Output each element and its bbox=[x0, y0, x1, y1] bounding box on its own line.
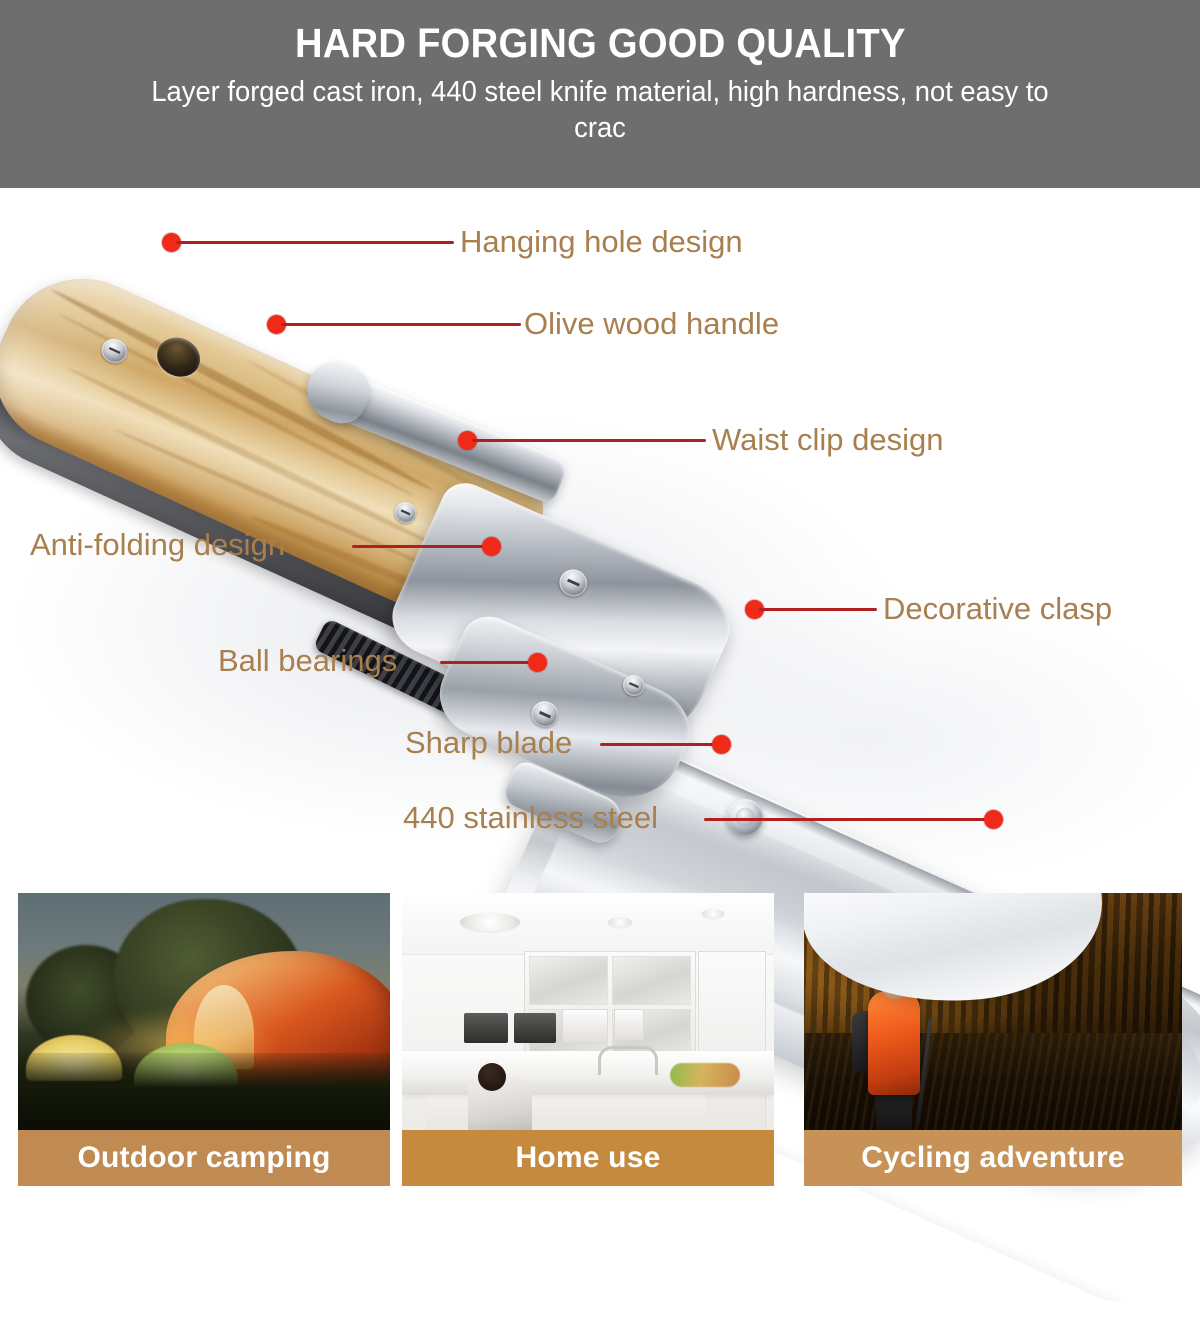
callout-dot bbox=[712, 735, 731, 754]
leader-line bbox=[281, 323, 521, 326]
callout-label: Olive wood handle bbox=[524, 308, 779, 339]
callout-label: 440 stainless steel bbox=[403, 802, 658, 833]
oven-appliance bbox=[464, 1013, 508, 1043]
callout-dot bbox=[984, 810, 1003, 829]
callout-label: Anti-folding design bbox=[30, 529, 285, 560]
kitchen-photo bbox=[402, 893, 774, 1139]
tall-cabinet bbox=[698, 951, 766, 1139]
header-banner: HARD FORGING GOOD QUALITY Layer forged c… bbox=[0, 0, 1200, 188]
callout-label: Ball bearings bbox=[218, 645, 397, 676]
callout-label: Sharp blade bbox=[405, 727, 572, 758]
camping-scene bbox=[18, 893, 390, 1139]
panel-caption-home: Home use bbox=[402, 1130, 774, 1186]
use-case-panels: Outdoor camping bbox=[0, 893, 1200, 1186]
ceiling-lamp-icon bbox=[460, 913, 520, 931]
panel-caption-cycling: Cycling adventure bbox=[804, 1130, 1182, 1186]
person-head bbox=[478, 1063, 506, 1091]
person-jacket bbox=[868, 991, 920, 1095]
leader-line bbox=[704, 818, 992, 821]
leader-line bbox=[472, 439, 706, 442]
downlight-icon bbox=[702, 909, 724, 918]
leader-line bbox=[600, 743, 718, 746]
cabinet-glass-pane bbox=[529, 956, 608, 1005]
grass-foreground bbox=[18, 1053, 390, 1139]
leader-line bbox=[176, 241, 454, 244]
kitchen-scene bbox=[402, 893, 774, 1139]
callout-dot bbox=[528, 653, 547, 672]
callout-label: Waist clip design bbox=[712, 424, 943, 455]
page-title: HARD FORGING GOOD QUALITY bbox=[295, 22, 906, 65]
callout-dot bbox=[482, 537, 501, 556]
panel-home-use[interactable]: Home use bbox=[402, 893, 774, 1186]
leader-line bbox=[440, 661, 534, 664]
callout-label: Decorative clasp bbox=[883, 593, 1112, 624]
downlight-icon bbox=[608, 917, 632, 927]
faucet-icon bbox=[598, 1046, 658, 1075]
page-subtitle: Layer forged cast iron, 440 steel knife … bbox=[139, 75, 1061, 146]
leader-line bbox=[352, 545, 488, 548]
cave-photo bbox=[804, 893, 1182, 1139]
camping-photo bbox=[18, 893, 390, 1139]
appliance bbox=[614, 1009, 644, 1041]
panel-outdoor-camping[interactable]: Outdoor camping bbox=[18, 893, 390, 1186]
callout-label: Hanging hole design bbox=[460, 226, 743, 257]
microwave-appliance bbox=[514, 1013, 556, 1043]
panel-cycling-adventure[interactable]: Cycling adventure bbox=[804, 893, 1182, 1186]
panel-caption-camping: Outdoor camping bbox=[18, 1130, 390, 1186]
cabinet-glass-pane bbox=[612, 956, 691, 1005]
ceiling bbox=[402, 893, 774, 955]
vegetables bbox=[670, 1063, 740, 1087]
product-stage: Hanging hole design Olive wood handle Wa… bbox=[0, 188, 1200, 893]
leader-line bbox=[759, 608, 877, 611]
appliance bbox=[562, 1009, 608, 1043]
